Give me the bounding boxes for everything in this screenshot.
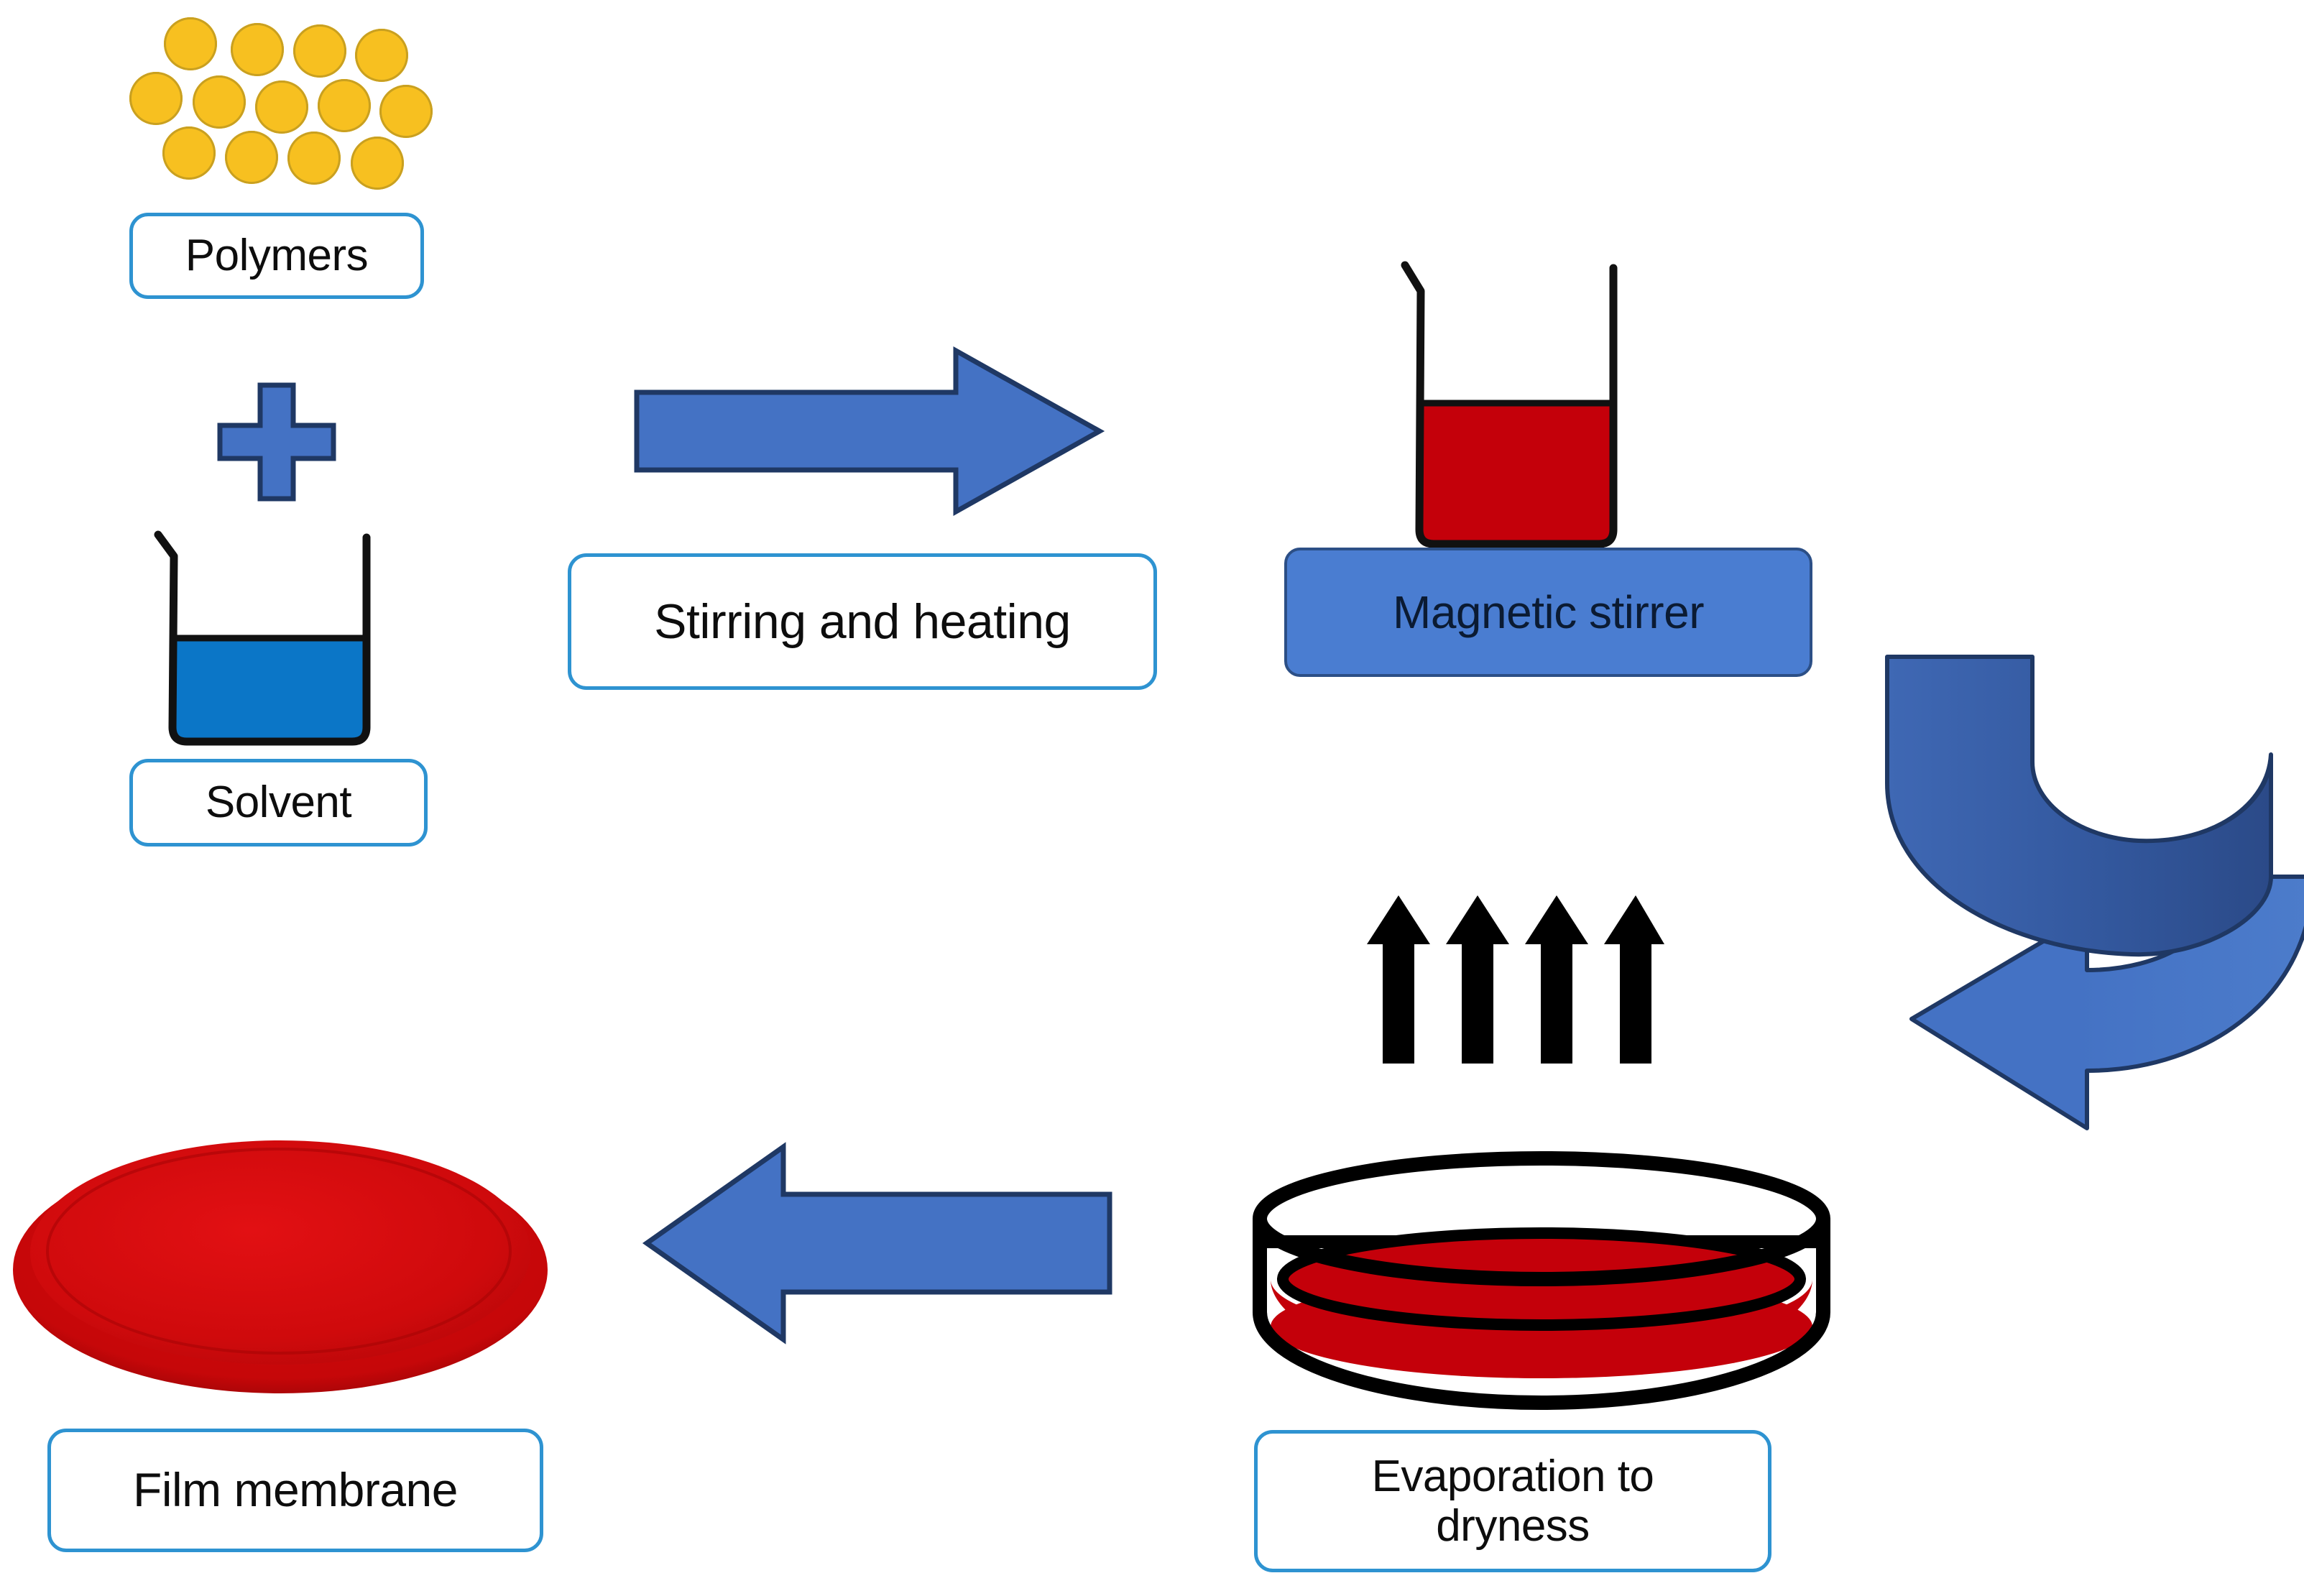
polymer-dot [318, 79, 371, 132]
polymers-label-box[interactable]: Polymers [129, 213, 424, 299]
plus-icon [216, 381, 338, 503]
evaporation-label-box[interactable]: Evaporation to dryness [1254, 1430, 1771, 1572]
polymers-label-text: Polymers [185, 231, 368, 280]
polymer-dot [231, 23, 284, 76]
petri-dish [1250, 1150, 1833, 1408]
polymer-dot [162, 126, 216, 180]
solution-beaker [1398, 262, 1635, 550]
polymer-dot [225, 131, 278, 184]
solvent-beaker [151, 532, 388, 747]
polymer-dot [164, 17, 217, 70]
polymer-dot [129, 72, 183, 125]
evaporation-label-line1: Evaporation to [1372, 1452, 1654, 1501]
film-membrane-disc [7, 1117, 553, 1398]
vapor-arrows [1365, 891, 1667, 1078]
polymer-dot [293, 24, 346, 78]
magnetic-stirrer-label-text: Magnetic stirrer [1393, 586, 1704, 639]
polymer-dot [255, 80, 308, 134]
right-arrow-stirring [632, 345, 1107, 517]
magnetic-stirrer-plate[interactable]: Magnetic stirrer [1284, 548, 1812, 677]
curved-transfer-arrow-icon [1837, 625, 2304, 1128]
evaporation-label-line2: dryness [1436, 1501, 1590, 1551]
stirring-heating-label-text: Stirring and heating [654, 594, 1071, 649]
polymer-cluster [121, 7, 444, 201]
diagram-canvas: Polymers Solvent Stirring and heating [0, 0, 2304, 1596]
stirring-heating-label-box[interactable]: Stirring and heating [568, 553, 1157, 690]
polymer-dot [379, 85, 433, 138]
polymer-dot [193, 75, 246, 129]
film-membrane-label-box[interactable]: Film membrane [47, 1429, 543, 1552]
solvent-label-box[interactable]: Solvent [129, 759, 428, 847]
film-membrane-label-text: Film membrane [133, 1464, 458, 1517]
left-arrow-to-film [640, 1143, 1114, 1344]
solvent-label-text: Solvent [206, 778, 351, 827]
polymer-dot [287, 132, 341, 185]
polymer-dot [351, 137, 404, 190]
polymer-dot [355, 29, 408, 82]
